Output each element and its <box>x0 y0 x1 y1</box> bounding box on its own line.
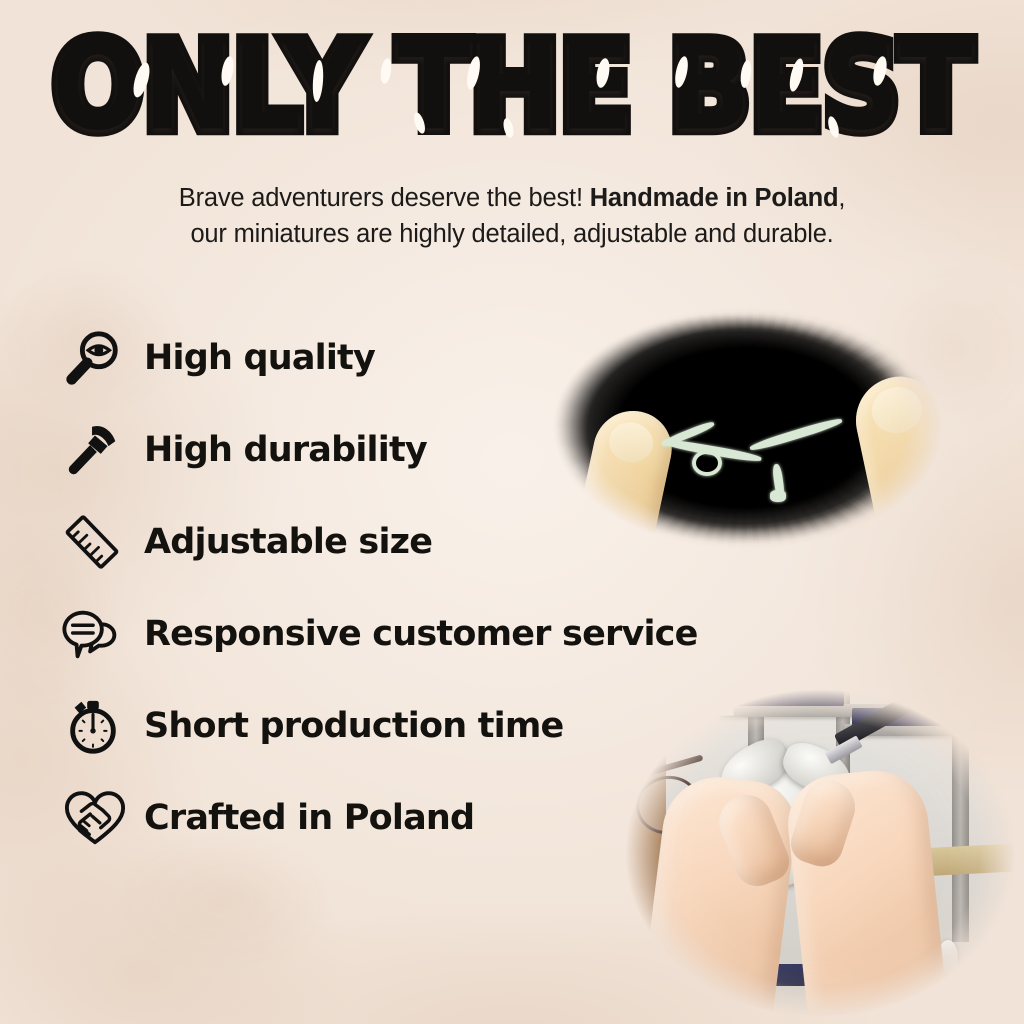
flexible-miniature-photo <box>512 278 982 578</box>
painting-workshop-photo <box>600 668 1024 1024</box>
feature-label: Adjustable size <box>144 525 432 560</box>
subtitle-line-2: our miniatures are highly detailed, adju… <box>190 220 833 248</box>
promo-poster: ONLY THE BEST Brave adventurers deserve … <box>0 0 1024 1024</box>
headline-container: ONLY THE BEST <box>0 34 1024 142</box>
subtitle-text-comma: , <box>838 184 845 212</box>
feature-label: High durability <box>144 433 427 468</box>
feature-item-responsive-customer-service: Responsive customer service <box>62 588 762 680</box>
miniature-tip-end <box>770 490 786 502</box>
heart-handshake-icon <box>62 783 136 853</box>
speech-bubbles-icon <box>62 599 136 669</box>
painting-workshop-photo-content <box>600 668 1024 1024</box>
magnifier-eye-icon <box>62 323 136 393</box>
subtitle-text-bold: Handmade in Poland <box>590 184 839 212</box>
miniature-tray <box>724 690 844 706</box>
hammer-icon <box>62 415 136 485</box>
flexible-miniature-photo-content <box>512 278 982 578</box>
subtitle-text-lead: Brave adventurers deserve the best! <box>179 184 590 212</box>
shelf-label-card <box>698 690 734 716</box>
feature-label: Crafted in Poland <box>144 801 474 836</box>
feature-label: High quality <box>144 341 375 376</box>
subtitle: Brave adventurers deserve the best! Hand… <box>0 180 1024 252</box>
subtitle-line-1: Brave adventurers deserve the best! Hand… <box>179 184 845 212</box>
page-title: ONLY THE BEST <box>52 28 972 149</box>
miniature-ring <box>692 450 722 476</box>
ruler-icon <box>62 507 136 577</box>
stopwatch-icon <box>62 691 136 761</box>
feature-label: Short production time <box>144 709 563 744</box>
feature-label: Responsive customer service <box>144 617 698 652</box>
fingernail <box>605 418 656 466</box>
fingernail <box>867 382 925 437</box>
